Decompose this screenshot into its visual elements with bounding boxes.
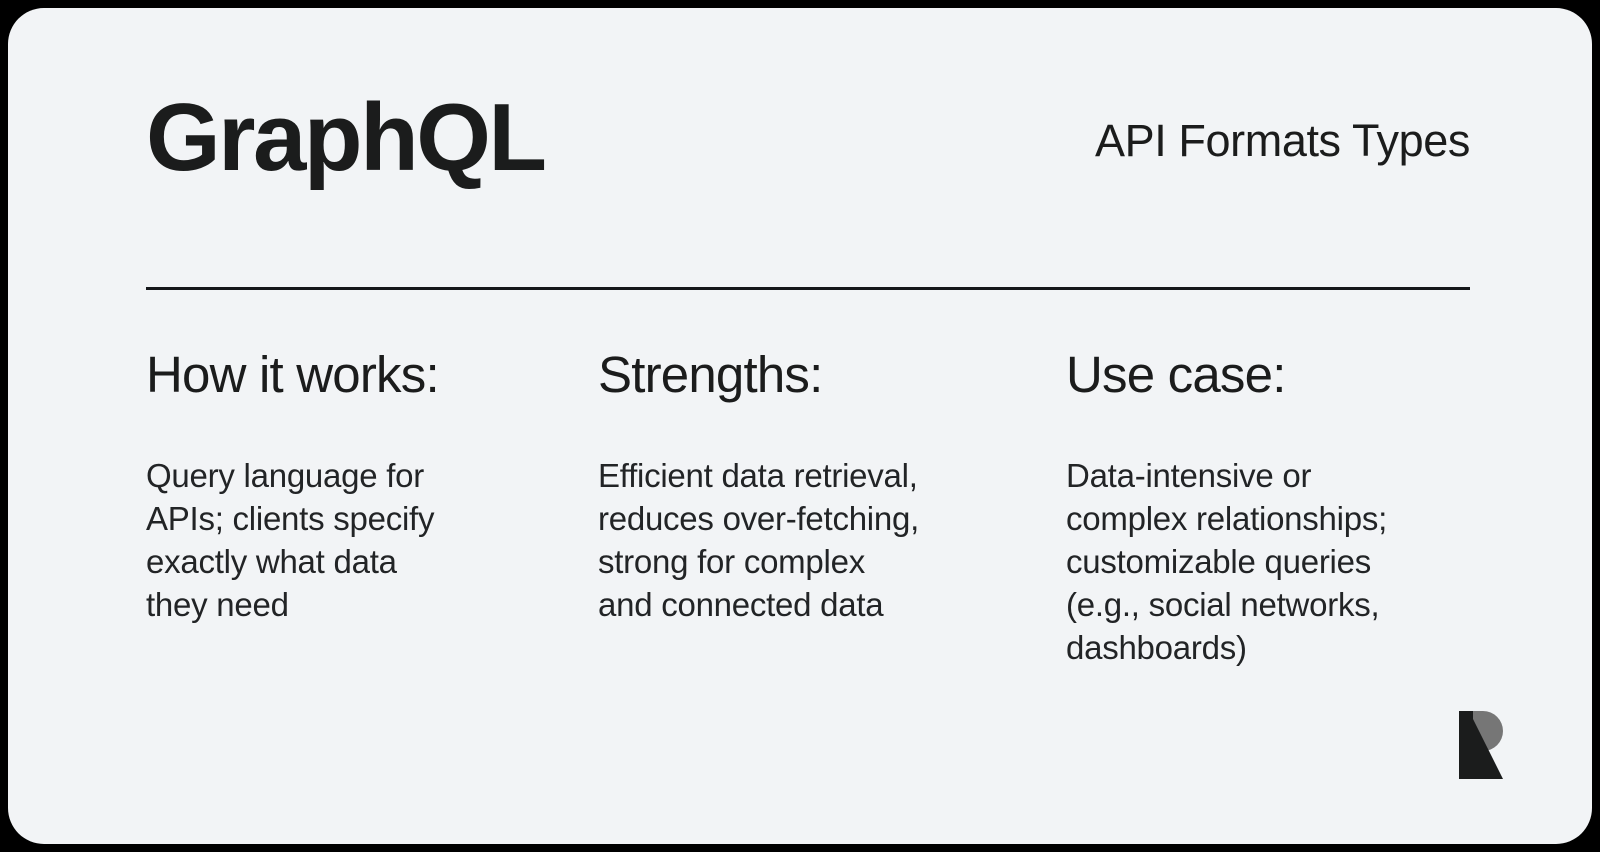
slide-header: GraphQL API Formats Types: [146, 96, 1470, 236]
column-how-it-works: How it works: Query language for APIs; c…: [146, 348, 598, 626]
category-label: API Formats Types: [1095, 118, 1470, 163]
column-heading: Use case:: [1066, 348, 1476, 402]
column-use-case: Use case: Data-intensive or complex rela…: [1066, 348, 1476, 669]
content-columns: How it works: Query language for APIs; c…: [146, 348, 1476, 669]
page-title: GraphQL: [146, 90, 545, 186]
slide-card: GraphQL API Formats Types How it works: …: [8, 8, 1592, 844]
header-divider: [146, 287, 1470, 290]
column-strengths: Strengths: Efficient data retrieval, red…: [598, 348, 1066, 626]
column-body-text: Efficient data retrieval, reduces over-f…: [598, 454, 1066, 626]
column-body-text: Data-intensive or complex relationships;…: [1066, 454, 1476, 669]
column-heading: How it works:: [146, 348, 598, 402]
column-body-text: Query language for APIs; clients specify…: [146, 454, 598, 626]
column-heading: Strengths:: [598, 348, 1066, 402]
brand-logo-r-mark: [1459, 711, 1503, 779]
